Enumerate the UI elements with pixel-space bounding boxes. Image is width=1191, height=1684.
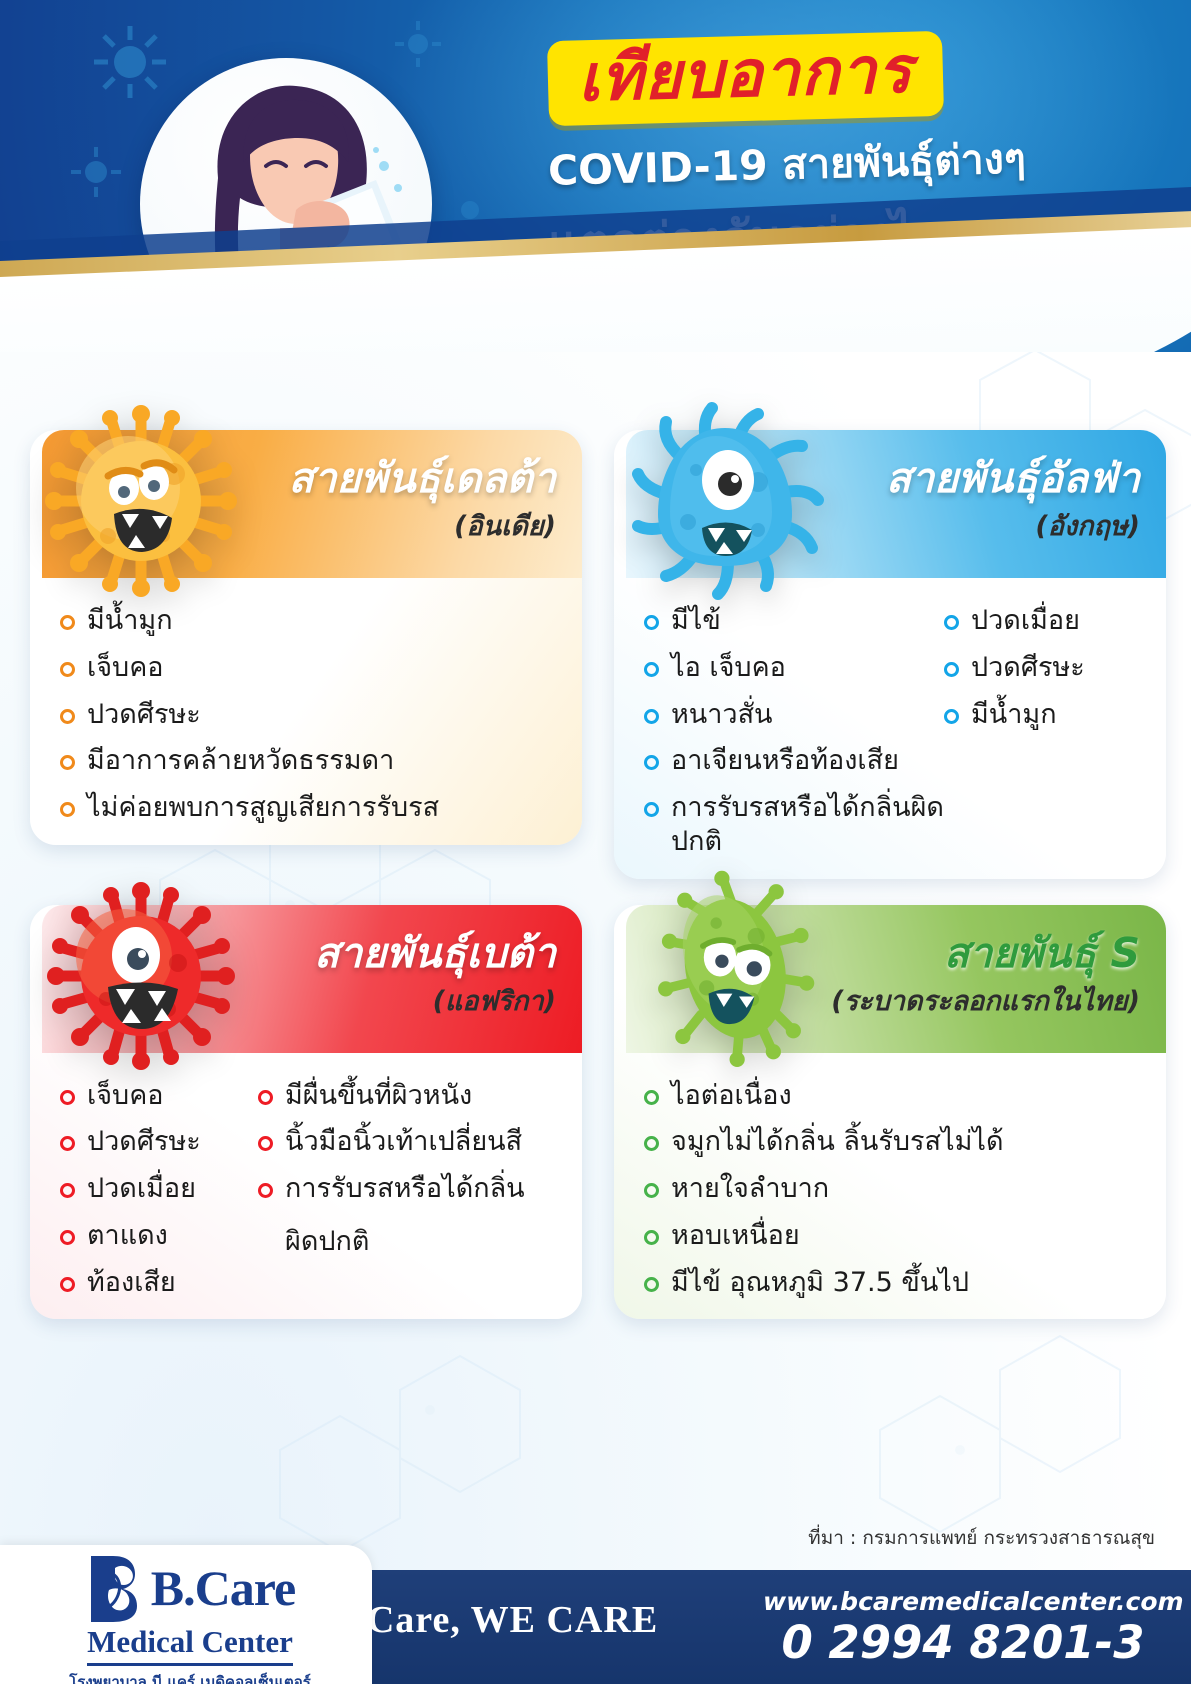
list-item: หนาวสั่น: [644, 698, 944, 732]
list-item: ท้องเสีย: [60, 1266, 258, 1300]
bullet-icon: [60, 1230, 75, 1245]
symptom-text: นิ้วมือนิ้วเท้าเปลี่ยนสี: [285, 1125, 522, 1159]
symptom-text: ท้องเสีย: [87, 1266, 176, 1300]
bullet-icon: [644, 709, 659, 724]
variant-origin: (แอฟริกา): [314, 979, 556, 1022]
bullet-icon: [644, 1277, 659, 1292]
list-item: ปวดเมื่อย: [944, 604, 1085, 638]
bullet-icon: [60, 802, 75, 817]
footer-website[interactable]: www.bcaremedicalcenter.com: [763, 1587, 1163, 1616]
bullet-icon: [644, 1183, 659, 1198]
symptom-text: ปวดศีรษะ: [971, 651, 1085, 685]
list-item: มีน้ำมูก: [944, 698, 1085, 732]
symptom-text: มีไข้ อุณหภูมิ 37.5 ขึ้นไป: [671, 1266, 969, 1300]
symptom-text: อาเจียนหรือท้องเสีย: [671, 744, 899, 778]
virus-green-icon: [640, 851, 840, 1081]
list-item: หอบเหนื่อย: [644, 1219, 1004, 1253]
bullet-icon: [644, 755, 659, 770]
symptom-text: เจ็บคอ: [87, 651, 163, 685]
list-item: มีอาการคล้ายหวัดธรรมดา: [60, 744, 439, 778]
symptom-text: การรับรสหรือได้กลิ่นผิดปกติ: [671, 791, 944, 859]
symptom-text: เจ็บคอ: [87, 1079, 163, 1113]
symptom-text: หนาวสั่น: [671, 698, 773, 732]
symptom-text: ปวดศีรษะ: [87, 1125, 201, 1159]
variant-name: สายพันธุ์อัลฟ่า: [886, 456, 1140, 500]
bullet-icon: [258, 1136, 273, 1151]
variant-origin: (อินเดีย): [288, 504, 556, 547]
variant-cards-grid: สายพันธุ์เดลต้า (อินเดีย) มีน้ำมูก เจ็บค…: [0, 430, 1191, 1319]
variant-origin: (อังกฤษ): [886, 504, 1140, 547]
list-item: นิ้วมือนิ้วเท้าเปลี่ยนสี: [258, 1125, 525, 1159]
variant-name: สายพันธุ์เบต้า: [314, 931, 556, 975]
bullet-icon: [60, 662, 75, 677]
footer-phone[interactable]: 0 2994 8201-3: [763, 1616, 1163, 1669]
bullet-icon: [944, 615, 959, 630]
brand-logo: B.Care Medical Center โรงพยาบาล บี.แคร์ …: [30, 1552, 350, 1684]
symptom-text: ไอ เจ็บคอ: [671, 651, 786, 685]
symptom-text: ปวดเมื่อย: [971, 604, 1080, 638]
logo-primary-text: B.Care: [151, 1563, 295, 1613]
list-item: ไม่ค่อยพบการสูญเสียการรับรส: [60, 791, 439, 825]
bcare-b-mark-icon: [85, 1552, 151, 1624]
symptom-text: หายใจลำบาก: [671, 1172, 829, 1206]
variant-name: สายพันธุ์ S: [831, 931, 1140, 975]
virus-red-icon: [36, 871, 246, 1081]
list-item: เจ็บคอ: [60, 651, 439, 685]
list-item: หายใจลำบาก: [644, 1172, 1004, 1206]
virus-orange-icon: [36, 396, 246, 606]
variant-card-beta: สายพันธุ์เบต้า (แอฟริกา) เจ็บคอ ปวดศีรษะ…: [30, 905, 582, 1320]
list-item: การรับรสหรือได้กลิ่น: [258, 1172, 525, 1206]
symptom-text-continuation: ผิดปกติ: [258, 1219, 525, 1262]
variant-origin: (ระบาดระลอกแรกในไทย): [831, 979, 1140, 1022]
symptom-text: มีไข้: [671, 604, 721, 638]
list-item: จมูกไม่ได้กลิ่น ลิ้นรับรสไม่ได้: [644, 1125, 1004, 1159]
header-band: เทียบอาการ COVID-19 สายพันธุ์ต่างๆ แตกต่…: [0, 0, 1191, 352]
source-credit: ที่มา : กรมการแพทย์ กระทรวงสาธารณสุข: [808, 1523, 1155, 1553]
list-item: ปวดศีรษะ: [944, 651, 1085, 685]
symptom-text: มีอาการคล้ายหวัดธรรมดา: [87, 744, 394, 778]
bullet-icon: [644, 1136, 659, 1151]
page-title: เทียบอาการ: [547, 31, 944, 126]
list-item: มีน้ำมูก: [60, 604, 439, 638]
variant-card-alpha: สายพันธุ์อัลฟ่า (อังกฤษ) มีไข้ ไอ เจ็บคอ…: [614, 430, 1166, 879]
list-item: ปวดศีรษะ: [60, 1125, 258, 1159]
logo-secondary-text: Medical Center: [87, 1624, 293, 1666]
logo-thai-text: โรงพยาบาล บี.แคร์ เมดิคอลเซ็นเตอร์: [30, 1670, 350, 1684]
bullet-icon: [644, 802, 659, 817]
bullet-icon: [60, 1183, 75, 1198]
bullet-icon: [60, 1277, 75, 1292]
symptom-text: ตาแดง: [87, 1219, 168, 1253]
list-item: ปวดศีรษะ: [60, 698, 439, 732]
symptom-text: มีน้ำมูก: [971, 698, 1057, 732]
symptom-text: การรับรสหรือได้กลิ่น: [285, 1172, 525, 1206]
infographic-page: เทียบอาการ COVID-19 สายพันธุ์ต่างๆ แตกต่…: [0, 0, 1191, 1684]
symptom-text: ปวดศีรษะ: [87, 698, 201, 732]
symptom-text: หอบเหนื่อย: [671, 1219, 800, 1253]
symptom-text: มีผื่นขึ้นที่ผิวหนัง: [285, 1079, 472, 1113]
list-item: ไอ เจ็บคอ: [644, 651, 944, 685]
variant-card-delta: สายพันธุ์เดลต้า (อินเดีย) มีน้ำมูก เจ็บค…: [30, 430, 582, 879]
list-item: การรับรสหรือได้กลิ่นผิดปกติ: [644, 791, 944, 859]
bullet-icon: [60, 1090, 75, 1105]
list-item: มีผื่นขึ้นที่ผิวหนัง: [258, 1079, 525, 1113]
bullet-icon: [60, 755, 75, 770]
bullet-icon: [60, 709, 75, 724]
bullet-icon: [60, 1136, 75, 1151]
bullet-icon: [944, 709, 959, 724]
list-item: มีไข้ อุณหภูมิ 37.5 ขึ้นไป: [644, 1266, 1004, 1300]
list-item: ไอต่อเนื่อง: [644, 1079, 1004, 1113]
list-item: ปวดเมื่อย: [60, 1172, 258, 1206]
bullet-icon: [644, 615, 659, 630]
list-item: มีไข้: [644, 604, 944, 638]
bullet-icon: [258, 1183, 273, 1198]
variant-card-s: สายพันธุ์ S (ระบาดระลอกแรกในไทย) ไอต่อเน…: [614, 905, 1166, 1320]
bullet-icon: [644, 1230, 659, 1245]
bullet-icon: [944, 662, 959, 677]
symptom-text: จมูกไม่ได้กลิ่น ลิ้นรับรสไม่ได้: [671, 1125, 1004, 1159]
virus-blue-icon: [620, 396, 830, 606]
bullet-icon: [644, 662, 659, 677]
list-item: ตาแดง: [60, 1219, 258, 1253]
symptom-text: ปวดเมื่อย: [87, 1172, 196, 1206]
symptom-text: ไม่ค่อยพบการสูญเสียการรับรส: [87, 791, 439, 825]
symptom-text: ไอต่อเนื่อง: [671, 1079, 792, 1113]
list-item: เจ็บคอ: [60, 1079, 258, 1113]
bullet-icon: [644, 1090, 659, 1105]
bullet-icon: [258, 1090, 273, 1105]
footer-slogan: B.Care, WE CARE: [330, 1598, 658, 1642]
variant-name: สายพันธุ์เดลต้า: [288, 456, 556, 500]
symptom-text: มีน้ำมูก: [87, 604, 173, 638]
bullet-icon: [60, 615, 75, 630]
list-item: อาเจียนหรือท้องเสีย: [644, 744, 944, 778]
